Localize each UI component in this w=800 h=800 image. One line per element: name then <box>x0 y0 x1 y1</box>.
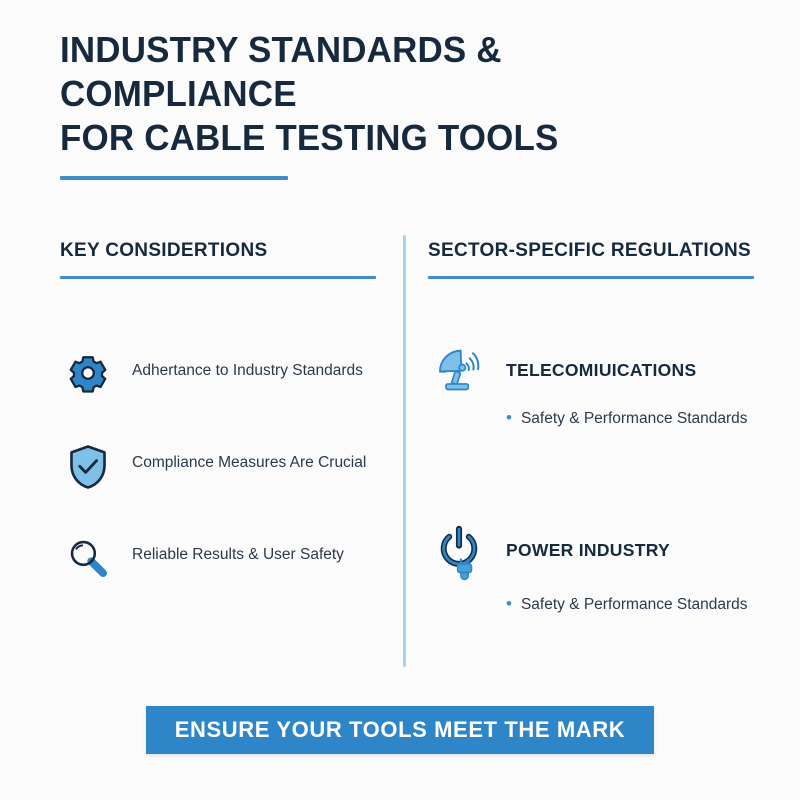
sector-header-row: POWER INDUSTRY <box>428 524 768 582</box>
gear-icon <box>60 350 116 394</box>
sector-telecommunications: TELECOMIUICATIONS • Safety & Performance… <box>428 344 768 431</box>
page-title: INDUSTRY STANDARDS & COMPLIANCE FOR CABL… <box>60 28 739 160</box>
list-item-label: Reliable Results & User Safety <box>116 534 344 567</box>
bullet-label: Safety & Performance Standards <box>521 407 748 431</box>
title-underline <box>60 176 288 180</box>
power-plug-icon <box>428 524 490 582</box>
left-heading-underline <box>60 276 376 279</box>
right-heading-underline <box>428 276 754 279</box>
bullet-dot-icon: • <box>506 406 512 430</box>
sector-regulations-heading: SECTOR-SPECIFIC REGULATIONS <box>428 240 758 262</box>
list-item-label: Compliance Measures Are Crucial <box>116 442 366 475</box>
list-item: • Safety & Performance Standards <box>506 592 768 617</box>
magnifier-icon <box>60 534 116 580</box>
bullet-label: Safety & Performance Standards <box>521 593 748 617</box>
satellite-dish-icon <box>428 344 490 396</box>
cta-label: ENSURE YOUR TOOLS MEET THE MARK <box>175 717 626 743</box>
list-item-label: Adhertance to Industry Standards <box>116 350 363 383</box>
list-item: Reliable Results & User Safety <box>60 534 390 590</box>
infographic-page: INDUSTRY STANDARDS & COMPLIANCE FOR CABL… <box>0 0 800 800</box>
cta-banner[interactable]: ENSURE YOUR TOOLS MEET THE MARK <box>146 706 654 754</box>
sector-bullet-list: • Safety & Performance Standards <box>428 592 768 617</box>
key-considerations-list: Adhertance to Industry Standards Complia… <box>60 350 390 626</box>
shield-check-icon <box>60 442 116 490</box>
right-column-header: SECTOR-SPECIFIC REGULATIONS <box>428 240 758 279</box>
left-column-header: KEY CONSIDERTIONS <box>60 240 376 279</box>
sector-title: POWER INDUSTRY <box>490 524 670 561</box>
list-item: Compliance Measures Are Crucial <box>60 442 390 498</box>
column-divider <box>403 235 406 667</box>
sector-bullet-list: • Safety & Performance Standards <box>428 406 768 431</box>
sector-title: TELECOMIUICATIONS <box>490 344 696 381</box>
list-item: • Safety & Performance Standards <box>506 406 768 431</box>
title-block: INDUSTRY STANDARDS & COMPLIANCE FOR CABL… <box>60 28 760 180</box>
sector-power-industry: POWER INDUSTRY • Safety & Performance St… <box>428 524 768 617</box>
key-considerations-heading: KEY CONSIDERTIONS <box>60 240 376 262</box>
list-item: Adhertance to Industry Standards <box>60 350 390 406</box>
bullet-dot-icon: • <box>506 592 512 616</box>
sector-header-row: TELECOMIUICATIONS <box>428 344 768 396</box>
